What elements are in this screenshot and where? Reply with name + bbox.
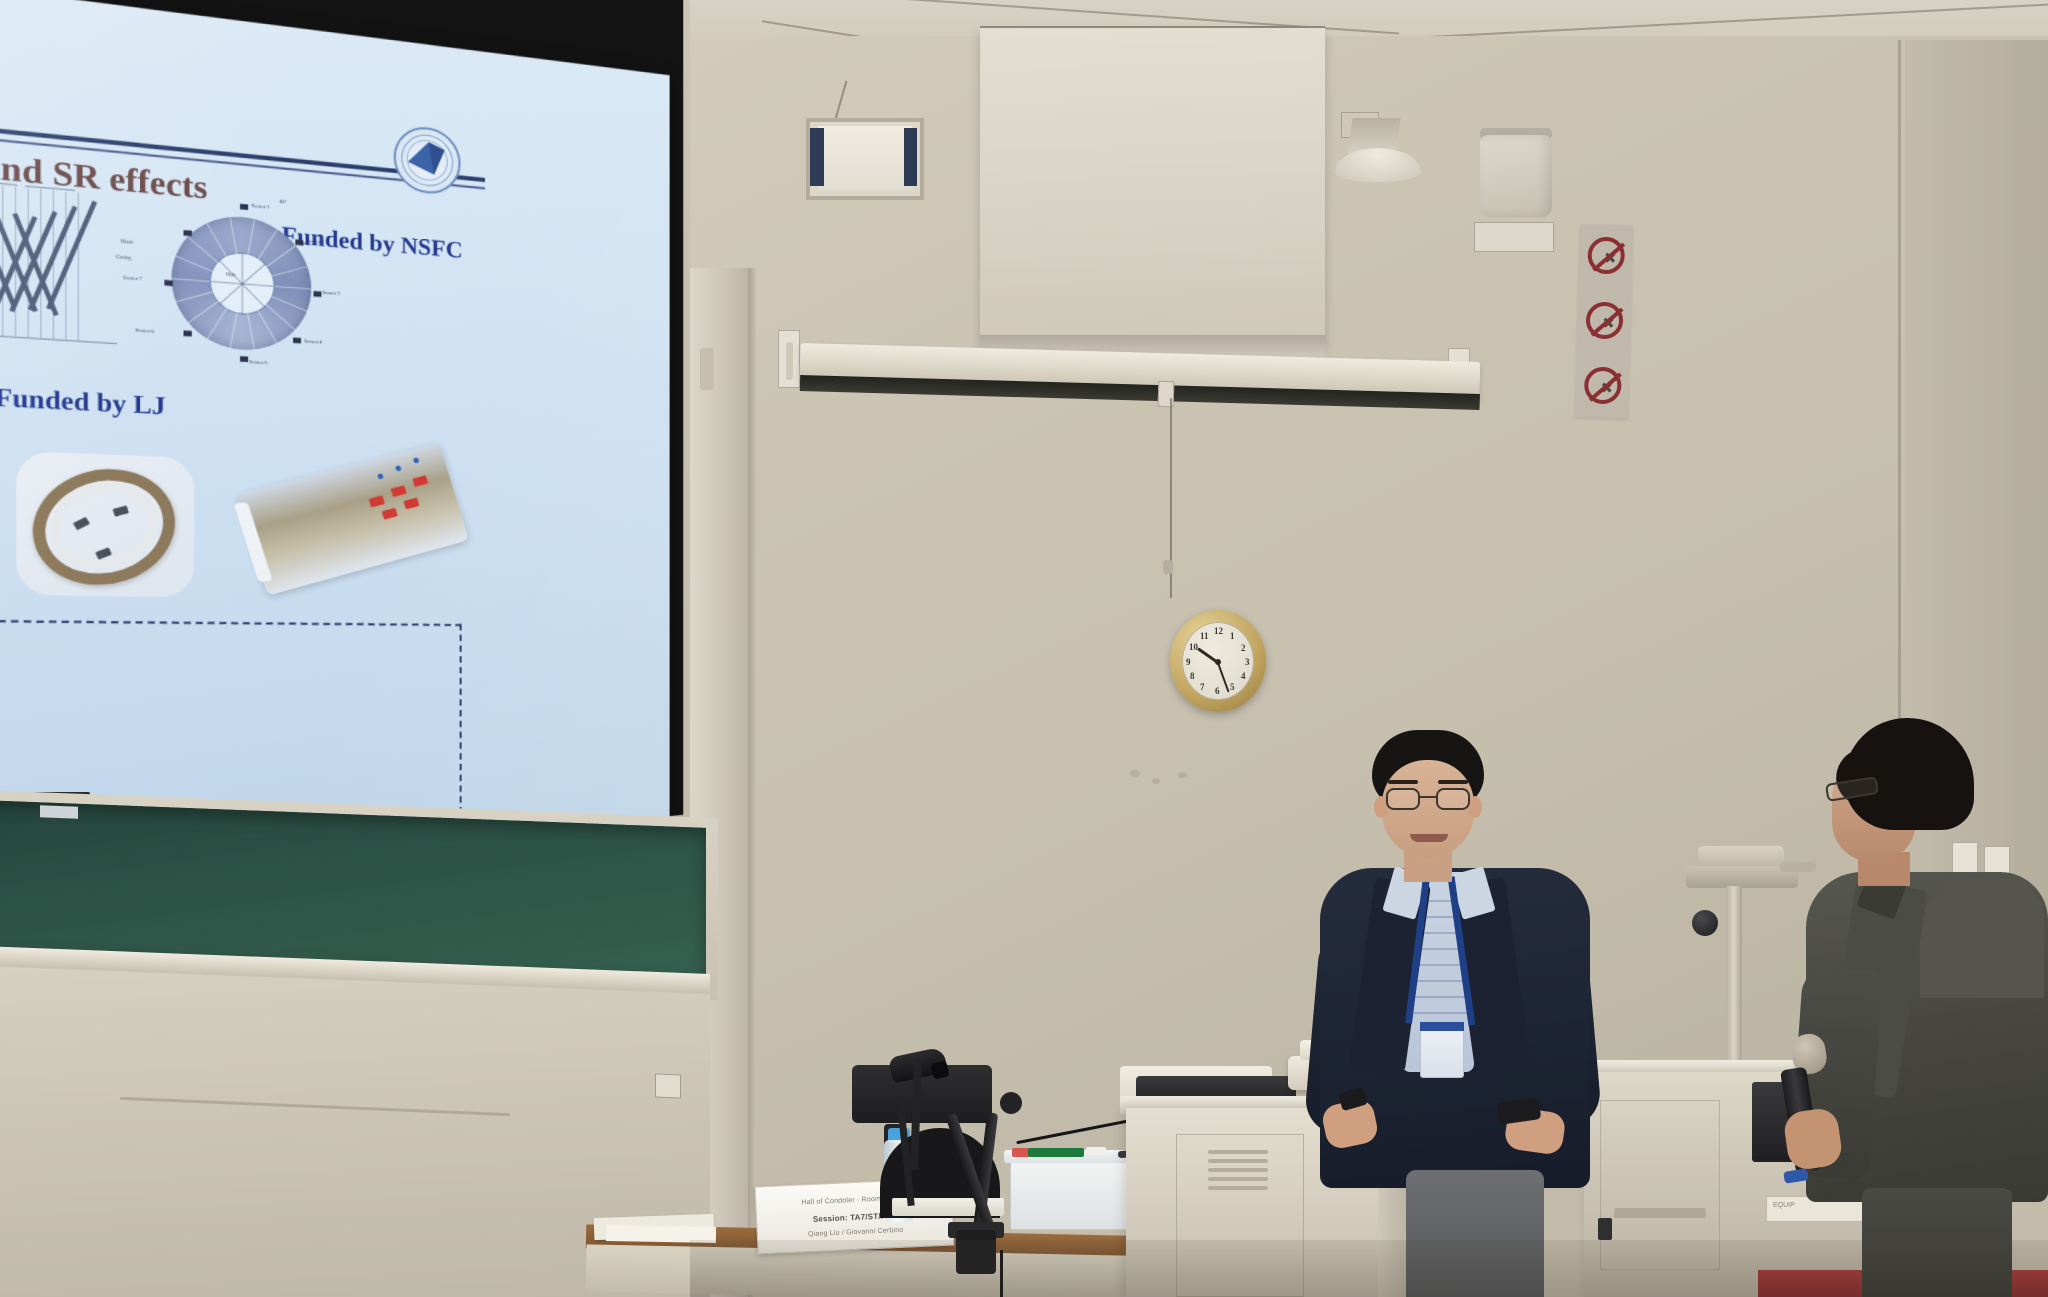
control-panel-tab-left (810, 128, 824, 186)
sensor-label: Sensor 4 (304, 338, 322, 345)
sensor-marker (183, 230, 191, 236)
control-panel-face (818, 126, 912, 190)
camera-arm-joint[interactable] (1000, 1092, 1022, 1114)
green-chalkboard (0, 800, 706, 976)
eyeglasses-lens-left (1386, 788, 1420, 810)
casing-instrumentation-strip-photo (236, 443, 469, 596)
projection-screen: an ism under the gap and SR effects Fund… (0, 0, 715, 883)
clock-numeral: 11 (1200, 631, 1209, 641)
sensor-marker (295, 239, 303, 245)
no-drinks-icon: ✖ (1586, 302, 1624, 340)
clock-numeral: 4 (1241, 671, 1246, 681)
screen-hook[interactable] (786, 342, 793, 380)
clock-numeral: 8 (1190, 671, 1195, 681)
clock-numeral: 3 (1245, 657, 1250, 667)
no-food-icon: ✖ (1584, 367, 1622, 405)
sensor-label: Sensor 1 (252, 203, 270, 210)
ceiling-air-conditioner-box (980, 28, 1325, 348)
name-badge-header (1420, 1022, 1464, 1031)
floor-shadow (690, 1240, 2048, 1297)
clock-numeral: 10 (1189, 642, 1198, 652)
moderator-hand (1782, 1107, 1844, 1172)
cabinet-vent-slots (1208, 1150, 1268, 1198)
screen-cord-weight (1163, 560, 1173, 574)
placard-line-3: Qiang Liu / Giovanni Cerbino (772, 1225, 940, 1240)
camera-lens-icon (931, 1061, 950, 1080)
presenter-eyebrow (1388, 780, 1418, 784)
microphone-band (1783, 1168, 1809, 1184)
sensor-marker (164, 280, 172, 286)
clock-brand-mark (1209, 640, 1223, 645)
part-label-hub: Hub (226, 271, 235, 277)
no-smoking-icon: ✖ (1587, 237, 1625, 275)
sensor-label: Sensor 6 (135, 327, 154, 334)
wall-mark (1152, 778, 1160, 784)
funding-note-lj: Funded by LJ (0, 383, 166, 421)
eyeglasses-lens-right (1436, 788, 1470, 810)
no-smoking-glyph: ✖ (1598, 250, 1621, 269)
eyeglasses-bridge (1420, 796, 1436, 798)
disk-angle-label: 45° (279, 199, 286, 205)
presentation-slide: an ism under the gap and SR effects Fund… (0, 0, 670, 851)
sensor-label: Sensor 5 (249, 359, 267, 366)
presenter-eyebrow (1438, 780, 1468, 784)
bearing-ring-assembly-photo (16, 451, 194, 597)
no-food-glyph: ✖ (1595, 380, 1618, 399)
clock-numeral: 6 (1215, 686, 1220, 696)
lecture-room-scene: ✖ ✖ ✖ 12 1 2 3 4 5 6 7 8 9 10 11 an (0, 0, 2048, 1297)
no-drinks-glyph: ✖ (1597, 315, 1620, 334)
board-light-switch[interactable] (655, 1074, 681, 1099)
prohibition-sign-strip: ✖ ✖ ✖ (1575, 224, 1632, 418)
sensor-label: Sensor 2 (307, 238, 325, 245)
clock-numeral: 9 (1186, 657, 1191, 667)
sensor-marker (293, 338, 301, 344)
presenter (1310, 730, 1600, 1297)
clock-center-pin (1215, 659, 1221, 665)
moderator (1770, 718, 2048, 1297)
moderator-shoulder (1920, 878, 2044, 998)
part-label-blade: Blade (121, 238, 134, 245)
clock-numeral: 2 (1241, 643, 1246, 653)
wall-speaker (1480, 135, 1552, 217)
presenter-ear (1468, 796, 1482, 818)
control-panel-tab-right (904, 128, 917, 186)
tripod-knob[interactable] (1692, 910, 1718, 936)
v-cascade-blade-schematic (0, 175, 122, 350)
strip-body (236, 443, 469, 596)
bench-paper-slot (1614, 1208, 1706, 1218)
wall-plate (1474, 222, 1554, 252)
sensor-marker (183, 330, 191, 336)
sensor-label: Sensor 3 (323, 290, 341, 297)
sensor-marker (240, 204, 248, 210)
sensor-label: Sensor 7 (123, 274, 142, 281)
camera-tripod-stand (1726, 886, 1742, 1086)
sensor-marker (314, 291, 322, 297)
clock-numeral: 7 (1200, 682, 1205, 692)
green-marker[interactable] (1028, 1148, 1084, 1157)
white-marker[interactable] (1086, 1147, 1106, 1155)
presenter-mouth (1410, 834, 1448, 842)
sensor-marker (240, 356, 248, 362)
clock-numeral: 5 (1230, 682, 1235, 692)
wall-mark (1178, 772, 1187, 778)
wall-pillar-edge (748, 268, 756, 1297)
bench-sensor (1598, 1218, 1612, 1240)
clock-numeral: 12 (1214, 626, 1223, 636)
annular-turbine-disk-sensor-layout: Sensor 1 Sensor 2 Sensor 3 Sensor 4 Sens… (152, 191, 329, 372)
clock-numeral: 1 (1230, 631, 1235, 641)
chalkboard-brand-tag (40, 805, 78, 818)
wall-mark (1130, 770, 1140, 777)
part-label-casing: Casing (116, 254, 131, 261)
